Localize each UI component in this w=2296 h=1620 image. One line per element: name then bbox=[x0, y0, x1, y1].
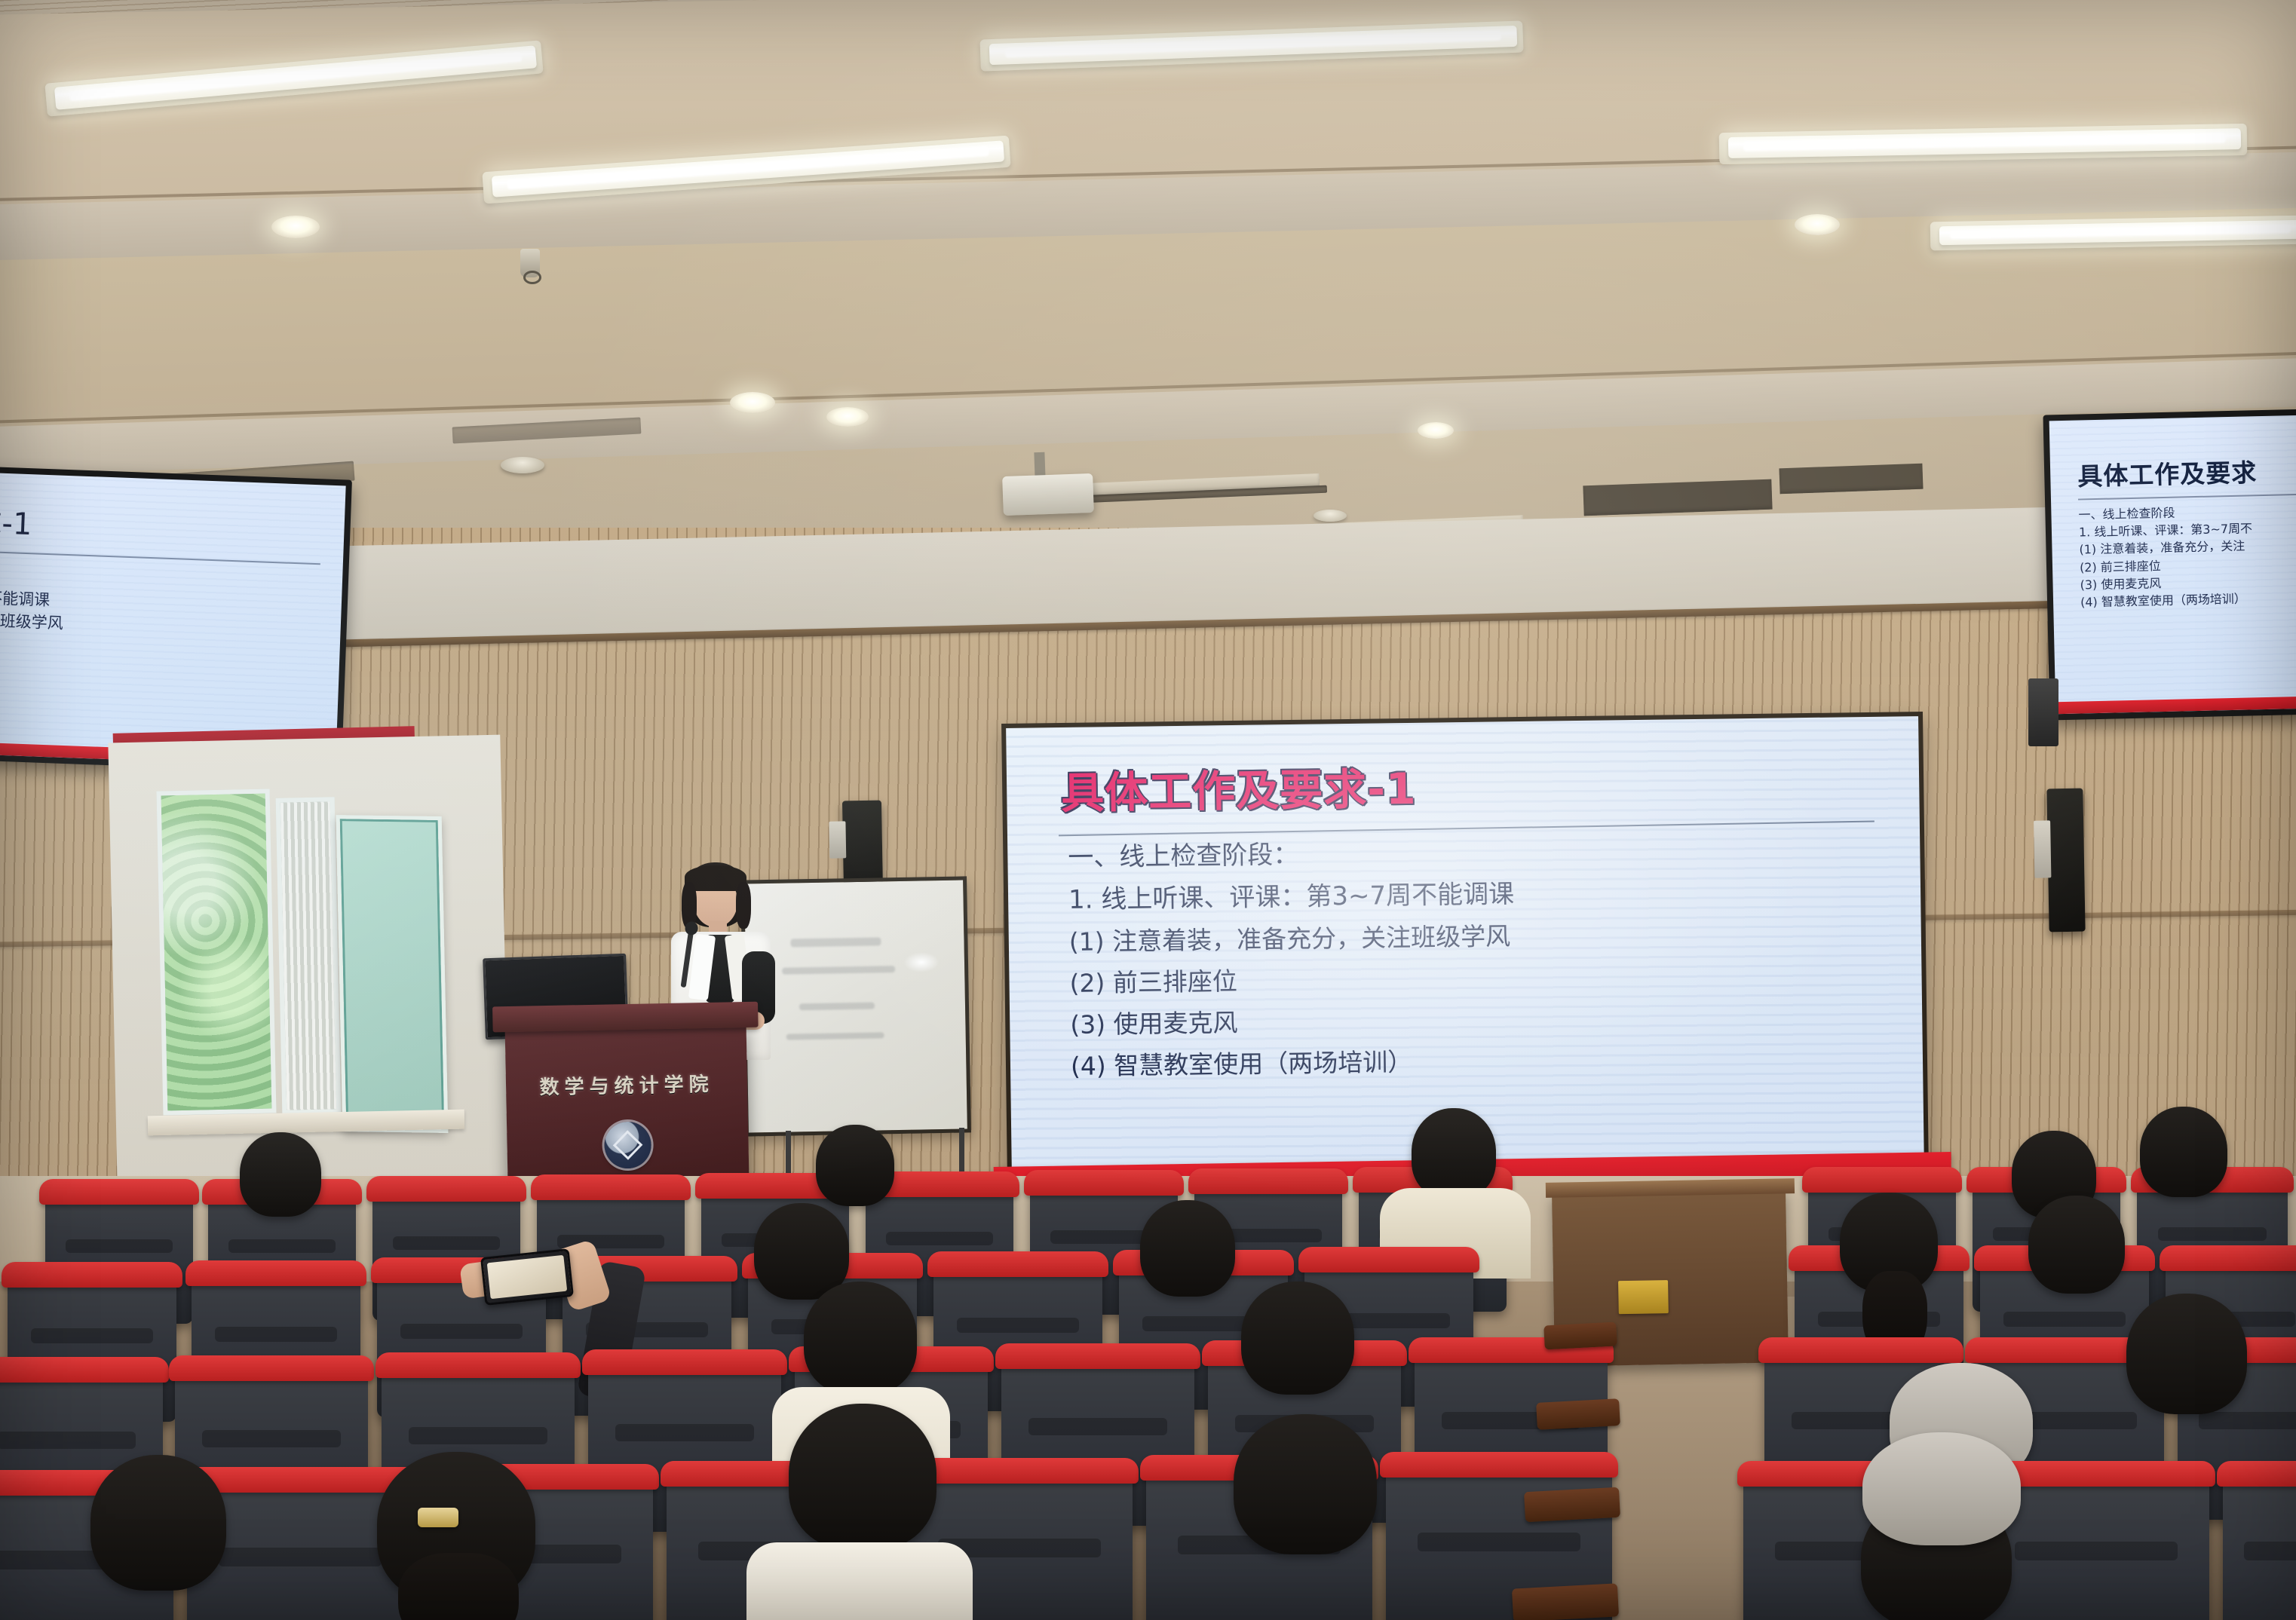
smoke-detector-2 bbox=[1314, 510, 1347, 522]
audience-head bbox=[754, 1203, 849, 1300]
fire-sprinkler bbox=[520, 249, 540, 277]
right-monitor-rule bbox=[2078, 493, 2296, 500]
right-speaker-bracket bbox=[2034, 820, 2051, 877]
audience-head bbox=[804, 1282, 917, 1395]
right-monitor-mount bbox=[2028, 678, 2058, 746]
slide-title-rule bbox=[1059, 821, 1875, 837]
ceiling-projector bbox=[1002, 473, 1094, 516]
ceiling-downlight-2 bbox=[730, 392, 775, 413]
lectern-top-rail bbox=[492, 1002, 759, 1033]
right-wall-monitor[interactable]: 具体工作及要求 一、线上检查阶段 1. 线上听课、评课：第3~7周不 (1) 注… bbox=[2043, 409, 2296, 721]
window-pane-mid[interactable] bbox=[276, 797, 342, 1115]
window-pane-left[interactable] bbox=[157, 789, 277, 1115]
whiteboard-marks-2 bbox=[782, 966, 895, 975]
audience-head bbox=[1140, 1200, 1235, 1297]
smartphone[interactable] bbox=[480, 1248, 574, 1306]
slide-line-6: (4) 智慧教室使用（两场培训） bbox=[1071, 1043, 1884, 1079]
slide-line-1: 一、线上检查阶段： bbox=[1068, 834, 1881, 871]
lectern-institution-name: 数学与统计学院 bbox=[506, 1068, 748, 1101]
audience-head bbox=[2028, 1196, 2125, 1294]
audience-head bbox=[816, 1125, 894, 1206]
ceiling-downlight-3 bbox=[826, 407, 869, 427]
seat-armrest bbox=[1543, 1322, 1617, 1350]
whiteboard-marks-3 bbox=[799, 1003, 875, 1011]
right-monitor-screen: 具体工作及要求 一、线上检查阶段 1. 线上听课、评课：第3~7周不 (1) 注… bbox=[2049, 415, 2296, 715]
smoke-detector bbox=[501, 457, 544, 473]
audience-head bbox=[1862, 1432, 2021, 1545]
audience-head bbox=[2126, 1294, 2247, 1414]
whiteboard-marks-4 bbox=[786, 1032, 884, 1040]
audience-shoulders bbox=[746, 1542, 973, 1620]
right-monitor-red-band bbox=[2055, 696, 2296, 715]
ceiling-downlight-7 bbox=[1418, 422, 1454, 439]
window-glass-mid bbox=[280, 801, 337, 1110]
left-monitor-title: 及要求-1 bbox=[0, 495, 345, 555]
audience-head bbox=[2140, 1107, 2227, 1197]
right-wall-speaker bbox=[2046, 789, 2085, 932]
left-speaker-bracket bbox=[829, 821, 846, 858]
table-row[interactable] bbox=[2223, 1470, 2296, 1620]
slide-body: 一、线上检查阶段： 1. 线上听课、评课：第3~7周不能调课 (1) 注意着装，… bbox=[1054, 834, 1884, 1079]
whiteboard-glare bbox=[904, 952, 939, 972]
slide-line-5: (3) 使用麦克风 bbox=[1070, 1002, 1883, 1037]
left-monitor-screen: 及要求-1 ：第3~7周不能调课 备充分，关注班级学风 （两场培训） bbox=[0, 470, 346, 767]
window-open-sash[interactable] bbox=[336, 815, 449, 1133]
ceiling-downlight-1 bbox=[271, 216, 320, 238]
presenter-hair-side-right bbox=[736, 882, 751, 929]
audience-head bbox=[240, 1132, 321, 1217]
whiteboard-marks-1 bbox=[790, 937, 881, 947]
slide-title: 具体工作及要求-1 bbox=[1061, 749, 1881, 821]
audience-head bbox=[1412, 1108, 1496, 1199]
seat-armrest bbox=[1536, 1398, 1620, 1430]
audience-head bbox=[789, 1404, 936, 1550]
university-crest-icon bbox=[604, 1121, 651, 1168]
window-glass-left bbox=[161, 794, 272, 1111]
desk-brass-plaque bbox=[1618, 1280, 1669, 1314]
slide-line-3: (1) 注意着装，准备充分，关注班级学风 bbox=[1069, 919, 1882, 954]
audience-head bbox=[90, 1455, 226, 1591]
ceiling-downlight-5 bbox=[1795, 214, 1840, 235]
audience-head bbox=[1234, 1414, 1377, 1554]
right-monitor-title: 具体工作及要求 bbox=[2077, 451, 2296, 493]
seat-armrest bbox=[1524, 1487, 1620, 1523]
audience-ponytail bbox=[398, 1553, 519, 1620]
ceiling-vent-slot-4 bbox=[1779, 464, 1923, 495]
slide-line-2: 1. 线上听课、评课：第3~7周不能调课 bbox=[1068, 877, 1881, 913]
hair-clip bbox=[418, 1508, 458, 1527]
phone-screen bbox=[487, 1255, 567, 1299]
left-wall-monitor[interactable]: 及要求-1 ：第3~7周不能调课 备充分，关注班级学风 （两场培训） bbox=[0, 464, 352, 774]
lecture-hall-photo: 具体工作及要求-1 一、线上检查阶段： 1. 线上听课、评课：第3~7周不能调课… bbox=[0, 0, 2296, 1620]
seat-armrest bbox=[1512, 1583, 1619, 1620]
slide-line-4: (2) 前三排座位 bbox=[1069, 960, 1882, 996]
audience-head bbox=[1241, 1282, 1354, 1395]
